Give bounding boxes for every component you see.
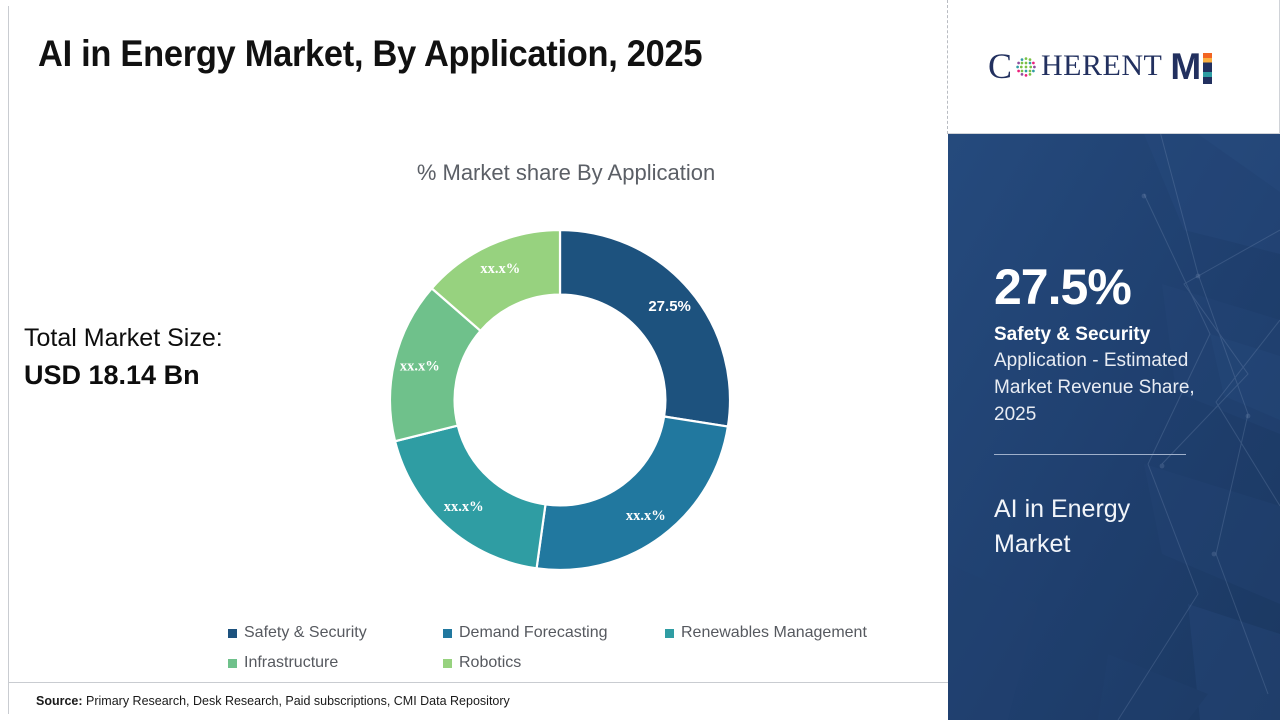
donut-chart: 27.5%xx.x%xx.x%xx.x%xx.x% [390, 230, 730, 570]
legend-label: Demand Forecasting [459, 624, 608, 642]
legend-row: Safety & SecurityDemand ForecastingRenew… [228, 618, 928, 648]
donut-slice-safety-security[interactable] [560, 230, 730, 427]
donut-slice-demand-forecasting[interactable] [537, 416, 728, 570]
donut-slice-label: xx.x% [400, 358, 440, 374]
highlight-market-name: AI in Energy Market [994, 492, 1209, 561]
source-note: Source: Primary Research, Desk Research,… [36, 694, 510, 708]
frame-divider-bottom [8, 682, 948, 683]
highlight-panel: 27.5% Safety & Security Application - Es… [948, 134, 1280, 720]
legend-item-renewables-management[interactable]: Renewables Management [665, 618, 895, 648]
logo-letters-herent: HERENT [1041, 51, 1162, 81]
legend-label: Robotics [459, 654, 521, 672]
logo-letter-c: C [988, 48, 1012, 84]
infographic-canvas: AI in Energy Market, By Application, 202… [0, 0, 1280, 720]
chart-legend: Safety & SecurityDemand ForecastingRenew… [228, 618, 928, 678]
total-market-size-label: Total Market Size: [24, 324, 223, 353]
donut-slice-label: xx.x% [626, 508, 666, 524]
highlight-segment-name: Safety & Security [994, 324, 1150, 347]
dotted-globe-icon [1013, 54, 1039, 80]
brand-logo[interactable]: C [988, 44, 1212, 88]
donut-slice-label: xx.x% [444, 499, 484, 515]
legend-item-infrastructure[interactable]: Infrastructure [228, 648, 443, 678]
frame-divider-dashed [947, 0, 948, 134]
donut-slice-label: xx.x% [480, 261, 520, 277]
donut-chart-svg: 27.5%xx.x%xx.x%xx.x%xx.x% [390, 230, 730, 570]
frame-divider-left [8, 6, 9, 714]
logo-letter-m: M [1170, 48, 1200, 85]
highlight-description: Application - Estimated Market Revenue S… [994, 348, 1232, 429]
source-text: Primary Research, Desk Research, Paid su… [83, 694, 510, 708]
logo-letter-i-bar [1203, 53, 1212, 84]
source-label: Source: [36, 694, 83, 708]
legend-swatch-icon [665, 629, 674, 638]
legend-swatch-icon [443, 659, 452, 668]
legend-item-demand-forecasting[interactable]: Demand Forecasting [443, 618, 665, 648]
legend-swatch-icon [228, 629, 237, 638]
page-title: AI in Energy Market, By Application, 202… [38, 33, 856, 75]
legend-swatch-icon [228, 659, 237, 668]
highlight-divider [994, 454, 1186, 455]
highlight-percent: 27.5% [994, 262, 1131, 312]
legend-row: InfrastructureRobotics [228, 648, 928, 678]
total-market-size-value: USD 18.14 Bn [24, 360, 200, 391]
legend-label: Safety & Security [244, 624, 367, 642]
chart-subtitle: % Market share By Application [396, 160, 736, 186]
legend-label: Infrastructure [244, 654, 338, 672]
legend-label: Renewables Management [681, 624, 867, 642]
legend-swatch-icon [443, 629, 452, 638]
donut-slice-renewables-management[interactable] [395, 426, 545, 569]
legend-item-robotics[interactable]: Robotics [443, 648, 665, 678]
donut-slice-label: 27.5% [648, 298, 691, 315]
legend-item-safety-security[interactable]: Safety & Security [228, 618, 443, 648]
